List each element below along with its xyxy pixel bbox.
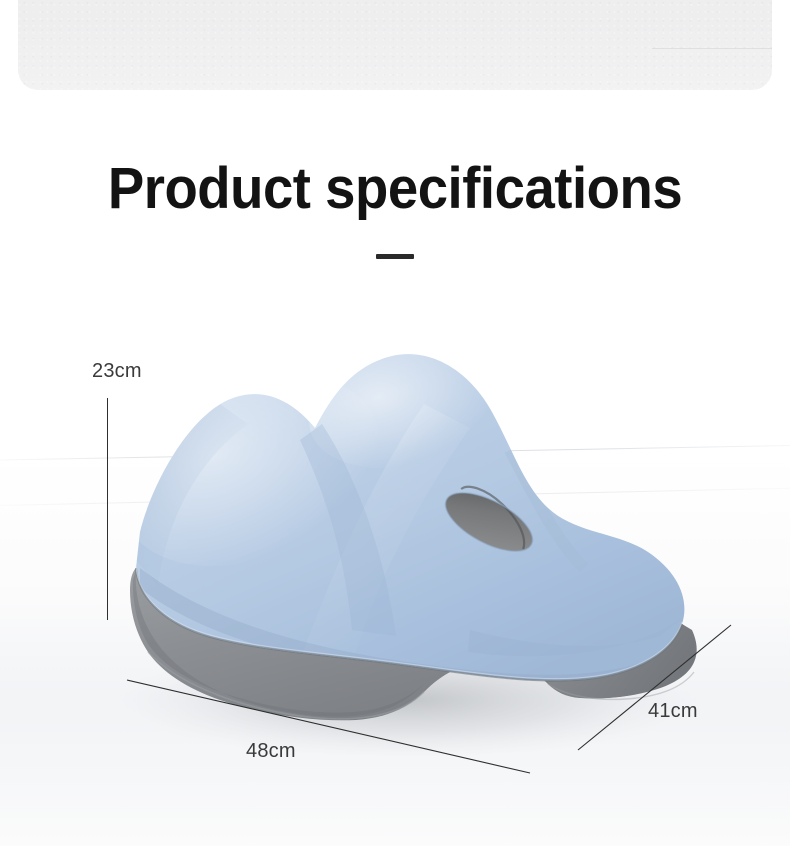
title-divider-rule	[376, 254, 414, 259]
banner-seam-line	[652, 48, 772, 49]
dimension-line-height	[107, 398, 108, 620]
product-specifications-page: Product specifications	[0, 0, 790, 846]
dimension-label-depth: 41cm	[648, 700, 698, 723]
product-scene: 23cm 48cm 41cm	[0, 300, 790, 846]
dimension-label-width: 48cm	[246, 740, 296, 763]
top-banner-panel	[18, 0, 772, 90]
dimension-label-height: 23cm	[92, 360, 142, 383]
page-title: Product specifications	[24, 160, 767, 218]
heading-block: Product specifications	[0, 160, 790, 259]
